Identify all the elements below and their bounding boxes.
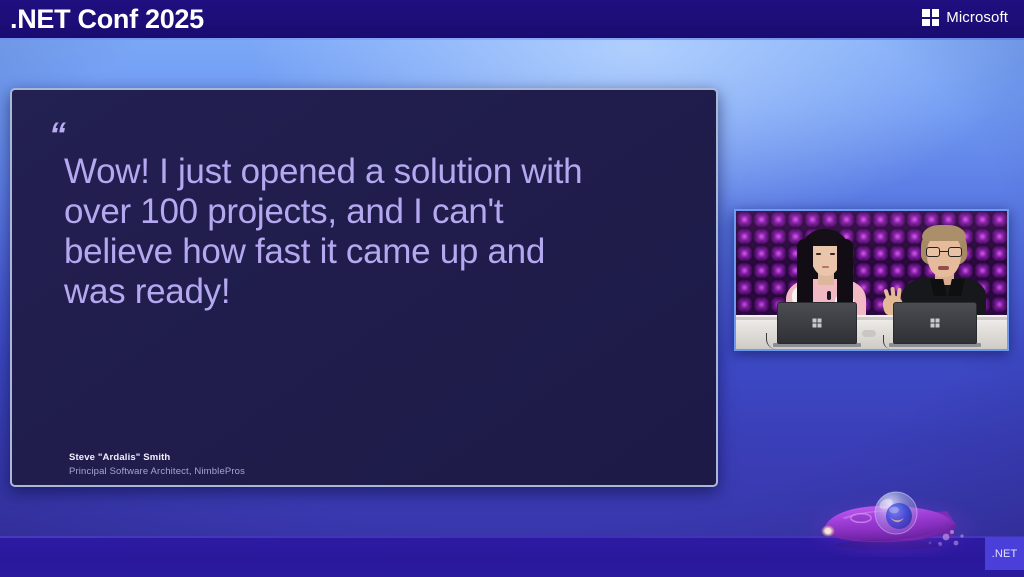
microsoft-logo: Microsoft: [922, 9, 1008, 26]
attribution-name: Steve "Ardalis" Smith: [69, 451, 245, 465]
attribution: Steve "Ardalis" Smith Principal Software…: [69, 451, 245, 479]
presenter-left-lapel-mic: [827, 291, 831, 300]
dotnet-badge-label: .NET: [992, 548, 1018, 560]
microsoft-wordmark: Microsoft: [946, 9, 1008, 26]
quote-block: “ Wow! I just opened a solution with ove…: [64, 130, 686, 312]
microsoft-squares-icon: [922, 9, 939, 26]
submarine-graphic: [806, 487, 986, 557]
quote-text: Wow! I just opened a solution with over …: [64, 152, 604, 312]
header-bar: .NET Conf 2025 Microsoft: [0, 0, 1024, 38]
submarine-glow: [806, 493, 986, 557]
microsoft-squares-icon: [813, 319, 822, 328]
presenter-left-eye: [830, 253, 835, 255]
laptop-right: [893, 302, 977, 344]
desk-object: [862, 330, 876, 337]
conference-title: .NET Conf 2025: [10, 1, 204, 37]
attribution-role: Principal Software Architect, NimblePros: [69, 465, 245, 479]
presenter-right-hair-top: [922, 225, 966, 241]
laptop-left: [777, 302, 857, 344]
microsoft-squares-icon: [931, 319, 940, 328]
presenter-right-glasses: [926, 247, 962, 257]
slide-stage: .NET Conf 2025 Microsoft “ Wow! I just o…: [0, 0, 1024, 577]
quote-mark-icon: “: [49, 130, 686, 152]
presenter-left-mouth: [822, 266, 829, 268]
presenter-video-feed[interactable]: [734, 209, 1009, 351]
quote-card: “ Wow! I just opened a solution with ove…: [10, 88, 718, 487]
presenter-right-mouth: [938, 266, 949, 270]
dotnet-badge: .NET: [985, 537, 1024, 570]
presenter-left-eye: [816, 253, 821, 255]
